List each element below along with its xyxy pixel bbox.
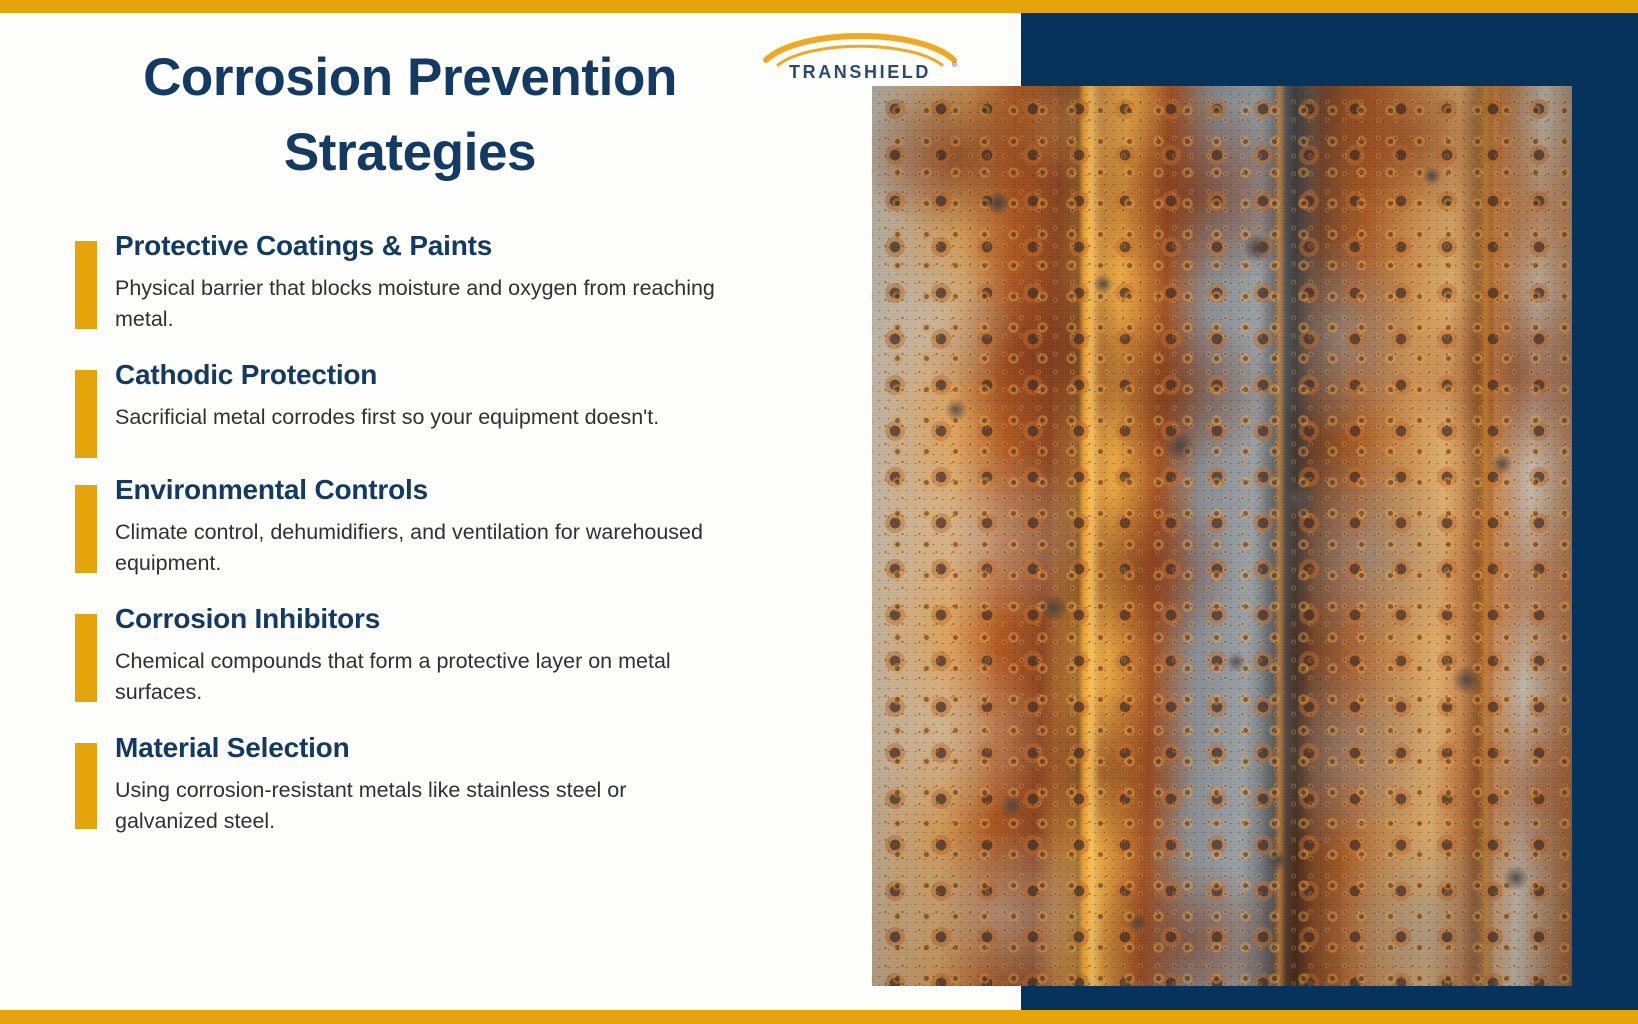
rusted-corrugated-metal-photo [872,86,1572,986]
bottom-gold-rule [0,1010,1638,1024]
infographic-slide: Corrosion Prevention Strategies Protecti… [0,0,1638,1024]
gold-accent-bar [75,485,97,573]
top-gold-rule [0,0,1638,13]
strategy-description: Chemical compounds that form a protectiv… [115,646,735,707]
logo-wordmark: TRANSHIELD [789,62,931,82]
strategy-title: Cathodic Protection [115,357,775,392]
white-footer-band [0,986,1021,1010]
list-item: Protective Coatings & Paints Physical ba… [75,228,775,334]
content-column: Corrosion Prevention Strategies Protecti… [0,13,1021,986]
transhield-logo: TRANSHIELD ® [760,20,960,82]
photo-vignette [872,86,1572,986]
strategy-description: Climate control, dehumidifiers, and vent… [115,517,735,578]
gold-accent-bar [75,614,97,702]
gold-accent-bar [75,241,97,329]
list-item: Material Selection Using corrosion-resis… [75,730,775,836]
list-item: Corrosion Inhibitors Chemical compounds … [75,601,775,707]
transhield-logo-mark: TRANSHIELD ® [760,20,960,82]
strategy-list: Protective Coatings & Paints Physical ba… [75,228,775,859]
logo-trademark-symbol: ® [952,61,958,69]
strategy-title: Material Selection [115,730,775,765]
page-title: Corrosion Prevention Strategies [60,40,760,191]
strategy-description: Using corrosion-resistant metals like st… [115,775,735,836]
strategy-description: Sacrificial metal corrodes first so your… [115,402,735,433]
strategy-title: Protective Coatings & Paints [115,228,775,263]
gold-accent-bar [75,743,97,829]
list-item: Environmental Controls Climate control, … [75,472,775,578]
list-item: Cathodic Protection Sacrificial metal co… [75,357,775,449]
strategy-title: Corrosion Inhibitors [115,601,775,636]
strategy-title: Environmental Controls [115,472,775,507]
gold-accent-bar [75,370,97,458]
strategy-description: Physical barrier that blocks moisture an… [115,273,735,334]
